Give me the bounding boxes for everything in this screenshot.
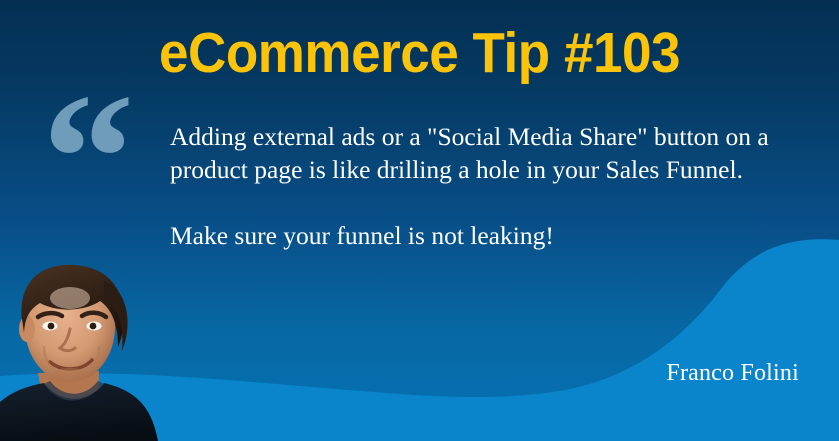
double-quote-open-icon: “ xyxy=(42,66,152,196)
quote-paragraph-2: Make sure your funnel is not leaking! xyxy=(170,219,820,252)
author-name: Franco Folini xyxy=(666,360,799,387)
quote-paragraph-1: Adding external ads or a "Social Media S… xyxy=(170,120,820,186)
author-portrait-photo xyxy=(0,255,175,441)
quote-text: Adding external ads or a "Social Media S… xyxy=(170,120,820,252)
ecommerce-tip-card: eCommerce Tip #103 “ Adding external ads… xyxy=(0,0,839,441)
